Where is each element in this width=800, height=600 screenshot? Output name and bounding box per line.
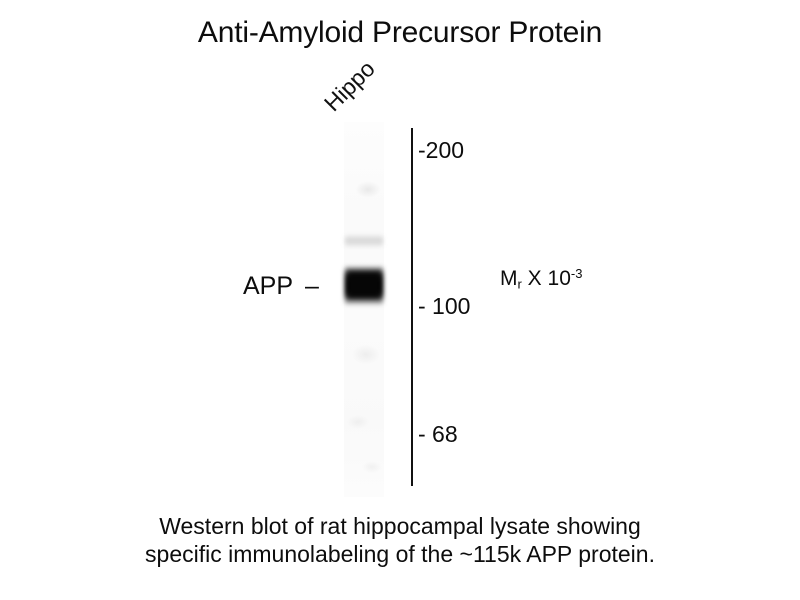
app-band-core — [347, 272, 381, 298]
mr-superscript: -3 — [571, 266, 583, 281]
app-label: APP — [243, 272, 293, 300]
lane-background — [344, 122, 384, 497]
marker-100: - 100 — [418, 295, 470, 318]
blot-lane — [340, 122, 386, 497]
page-title: Anti-Amyloid Precursor Protein — [0, 16, 800, 50]
caption-line-1: Western blot of rat hippocampal lysate s… — [0, 512, 800, 540]
mr-prefix: M — [500, 267, 518, 290]
caption-line-2: specific immunolabeling of the ~115k APP… — [0, 540, 800, 568]
western-blot-figure: Anti-Amyloid Precursor Protein Hippo APP… — [0, 0, 800, 600]
faint-band — [345, 234, 383, 248]
marker-axis-line — [411, 128, 413, 486]
lane-label-hippo: Hippo — [319, 55, 381, 117]
marker-68: - 68 — [418, 423, 458, 446]
mr-axis-label: Mr X 10-3 — [500, 267, 582, 291]
mr-middle: X 10 — [522, 267, 571, 290]
app-pointer-dash: – — [305, 274, 319, 299]
app-annotation: APP– — [243, 274, 319, 299]
figure-caption: Western blot of rat hippocampal lysate s… — [0, 512, 800, 568]
marker-200: -200 — [418, 139, 464, 162]
